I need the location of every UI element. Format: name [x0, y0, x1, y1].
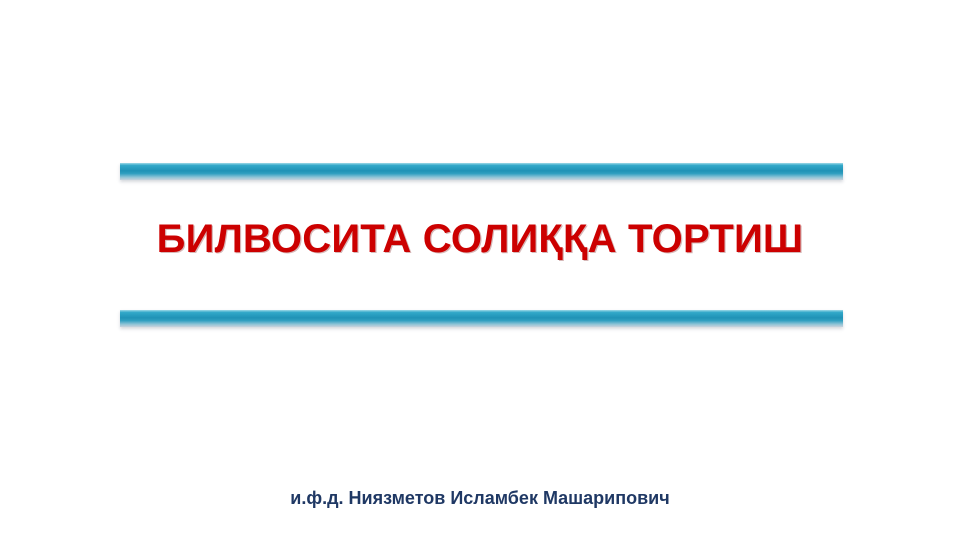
- presenter-name: и.ф.д. Ниязметов Исламбек Машарипович: [0, 485, 960, 511]
- page-title: БИЛВОСИТА СОЛИҚҚА ТОРТИШ: [0, 214, 960, 264]
- title-slide: БИЛВОСИТА СОЛИҚҚА ТОРТИШ и.ф.д. Ниязмето…: [0, 0, 960, 540]
- bottom-accent-rule: [120, 310, 843, 327]
- top-accent-rule: [120, 163, 843, 180]
